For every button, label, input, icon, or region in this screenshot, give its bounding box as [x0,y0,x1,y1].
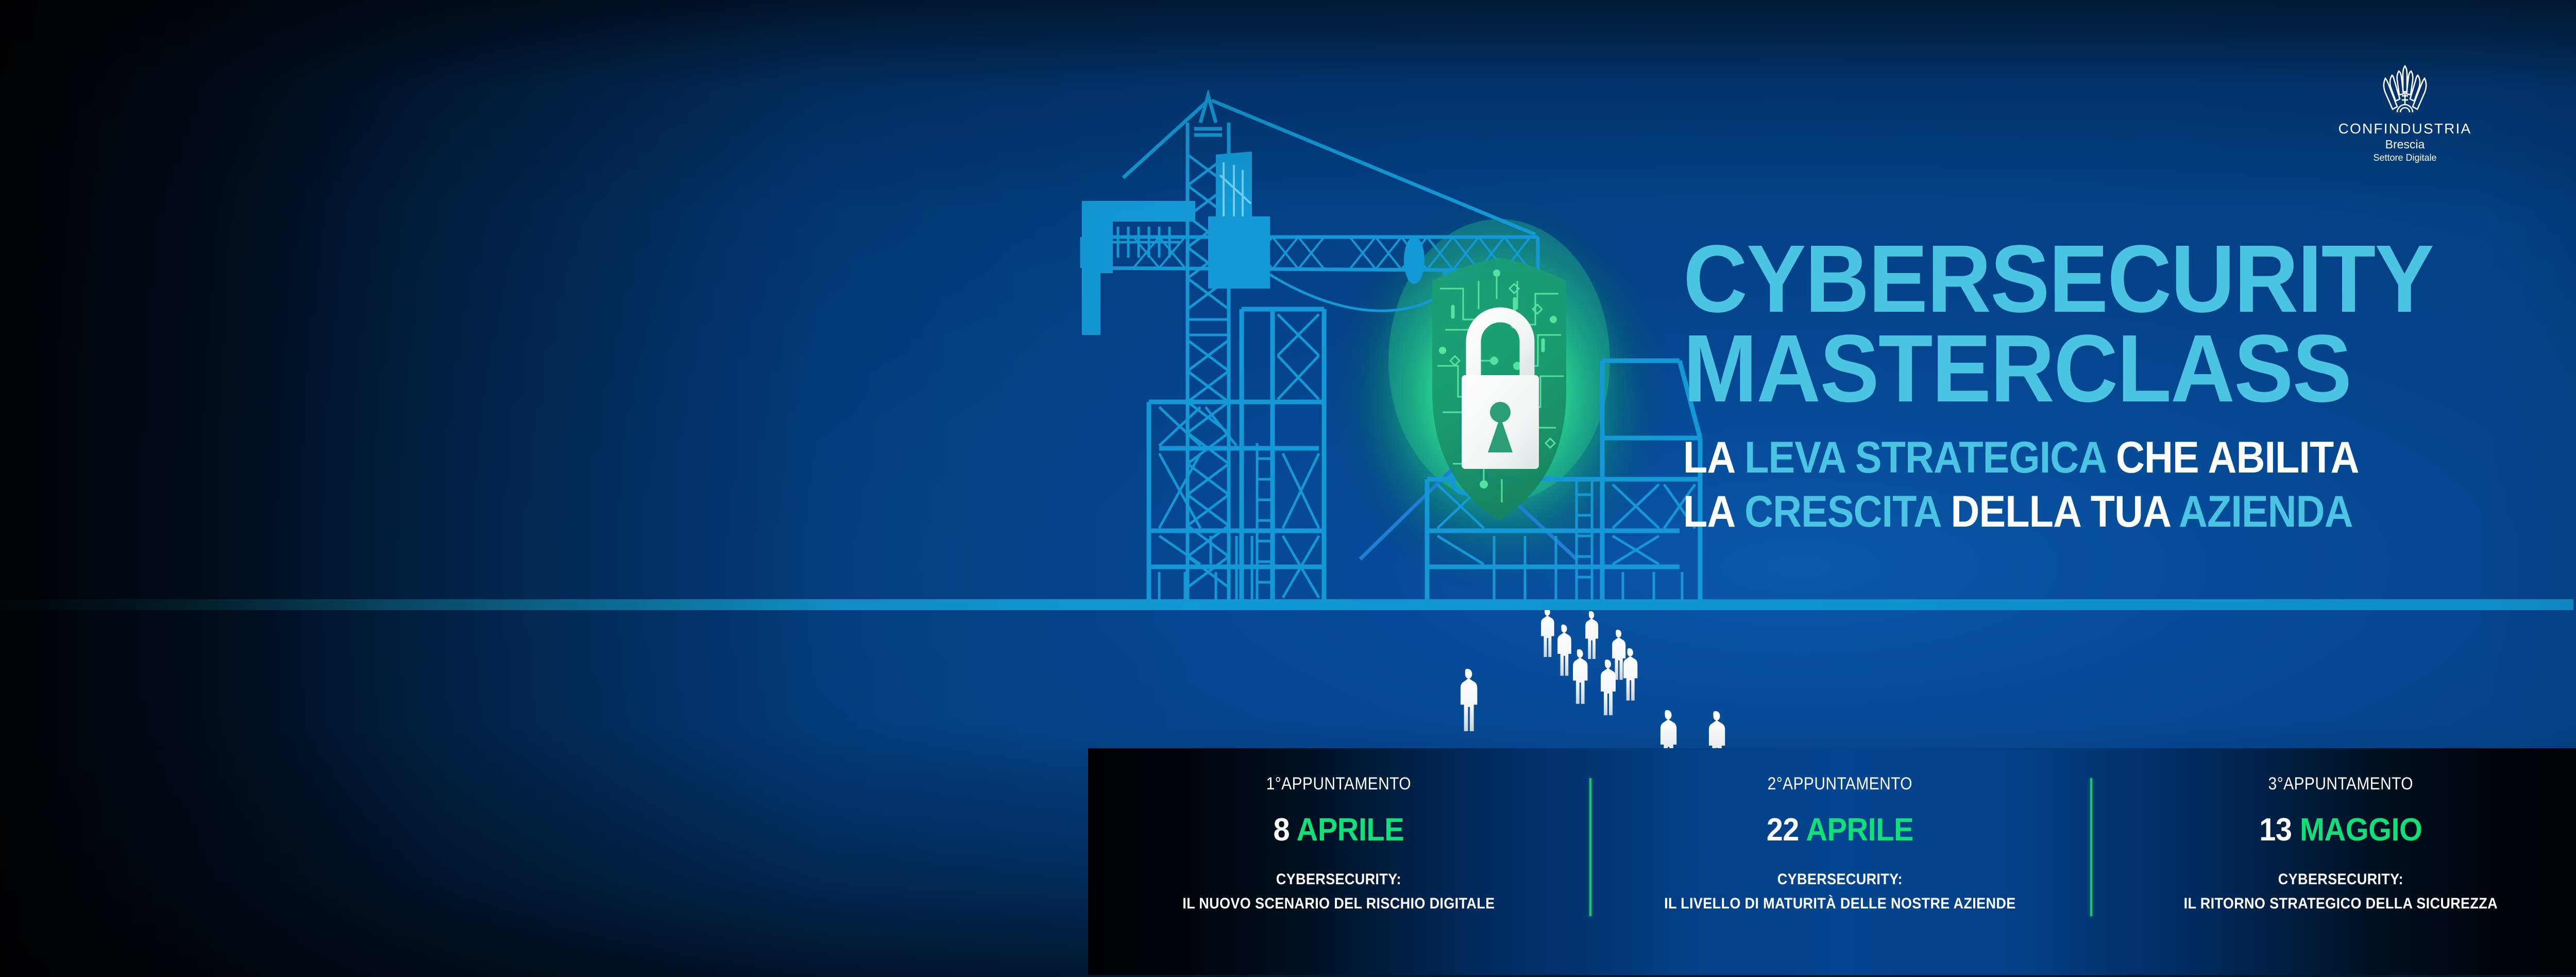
date-column-2[interactable]: 2°APPUNTAMENTO22 APRILECYBERSECURITY:IL … [1589,774,2091,975]
date-column-1[interactable]: 1°APPUNTAMENTO8 APRILECYBERSECURITY:IL N… [1088,774,1589,975]
subtitle-run-3: AZIENDA [2179,487,2353,536]
logo-department: Settore Digitale [2323,153,2487,162]
subtitle-run-0: LA [1683,487,1744,536]
event-month: APRILE [1297,812,1404,848]
topic-line-2: IL RITORNO STRATEGICO DELLA SICUREZZA [2123,895,2559,913]
topic-line-1: CYBERSECURITY: [1121,871,1557,888]
event-month: MAGGIO [2300,812,2422,848]
subtitle-run-0: LA [1683,433,1744,482]
subtitle-run-1: CRESCITA [1744,487,1951,536]
subtitle-line-2: LA CRESCITA DELLA TUA AZIENDA [1683,485,2518,539]
date-column-3[interactable]: 3°APPUNTAMENTO13 MAGGIOCYBERSECURITY:IL … [2090,774,2576,975]
topic-line-1: CYBERSECURITY: [2123,871,2559,888]
confindustria-eagle-icon [2376,63,2434,119]
subtitle-run-1: LEVA STRATEGICA [1744,433,2116,482]
topic-line-2: IL NUOVO SCENARIO DEL RISCHIO DIGITALE [1121,895,1557,913]
logo-name: CONFINDUSTRIA [2323,122,2487,136]
event-date: 8 APRILE [1113,812,1564,848]
topic-line-1: CYBERSECURITY: [1622,871,2058,888]
subtitle-line-1: LA LEVA STRATEGICA CHE ABILITA [1683,431,2518,485]
appointment-label: 2°APPUNTAMENTO [1626,774,2053,794]
event-date: 13 MAGGIO [2115,812,2566,848]
event-month: APRILE [1806,812,1913,848]
subtitle-run-2: CHE ABILITA [2116,433,2359,482]
cybersecurity-masterclass-banner: CONFINDUSTRIA Brescia Settore Digitale C… [0,0,2576,977]
event-date: 22 APRILE [1615,812,2065,848]
title-line-2: MASTERCLASS [1683,328,2546,410]
title-block: CYBERSECURITY MASTERCLASS LA LEVA STRATE… [1683,238,2576,539]
subtitle-run-2: DELLA TUA [1951,487,2179,536]
appointment-label: 1°APPUNTAMENTO [1125,774,1552,794]
event-day: 13 [2260,812,2300,848]
title-line-1: CYBERSECURITY [1683,238,2546,321]
appointment-label: 3°APPUNTAMENTO [2128,774,2554,794]
event-day: 22 [1766,812,1806,848]
dates-panel: 1°APPUNTAMENTO8 APRILECYBERSECURITY:IL N… [1088,748,2576,975]
logo-city: Brescia [2323,139,2487,150]
event-day: 8 [1274,812,1297,848]
subtitle: LA LEVA STRATEGICA CHE ABILITA LA CRESCI… [1683,431,2518,539]
topic-line-2: IL LIVELLO DI MATURITÀ DELLE NOSTRE AZIE… [1622,895,2058,913]
confindustria-logo: CONFINDUSTRIA Brescia Settore Digitale [2323,63,2487,162]
